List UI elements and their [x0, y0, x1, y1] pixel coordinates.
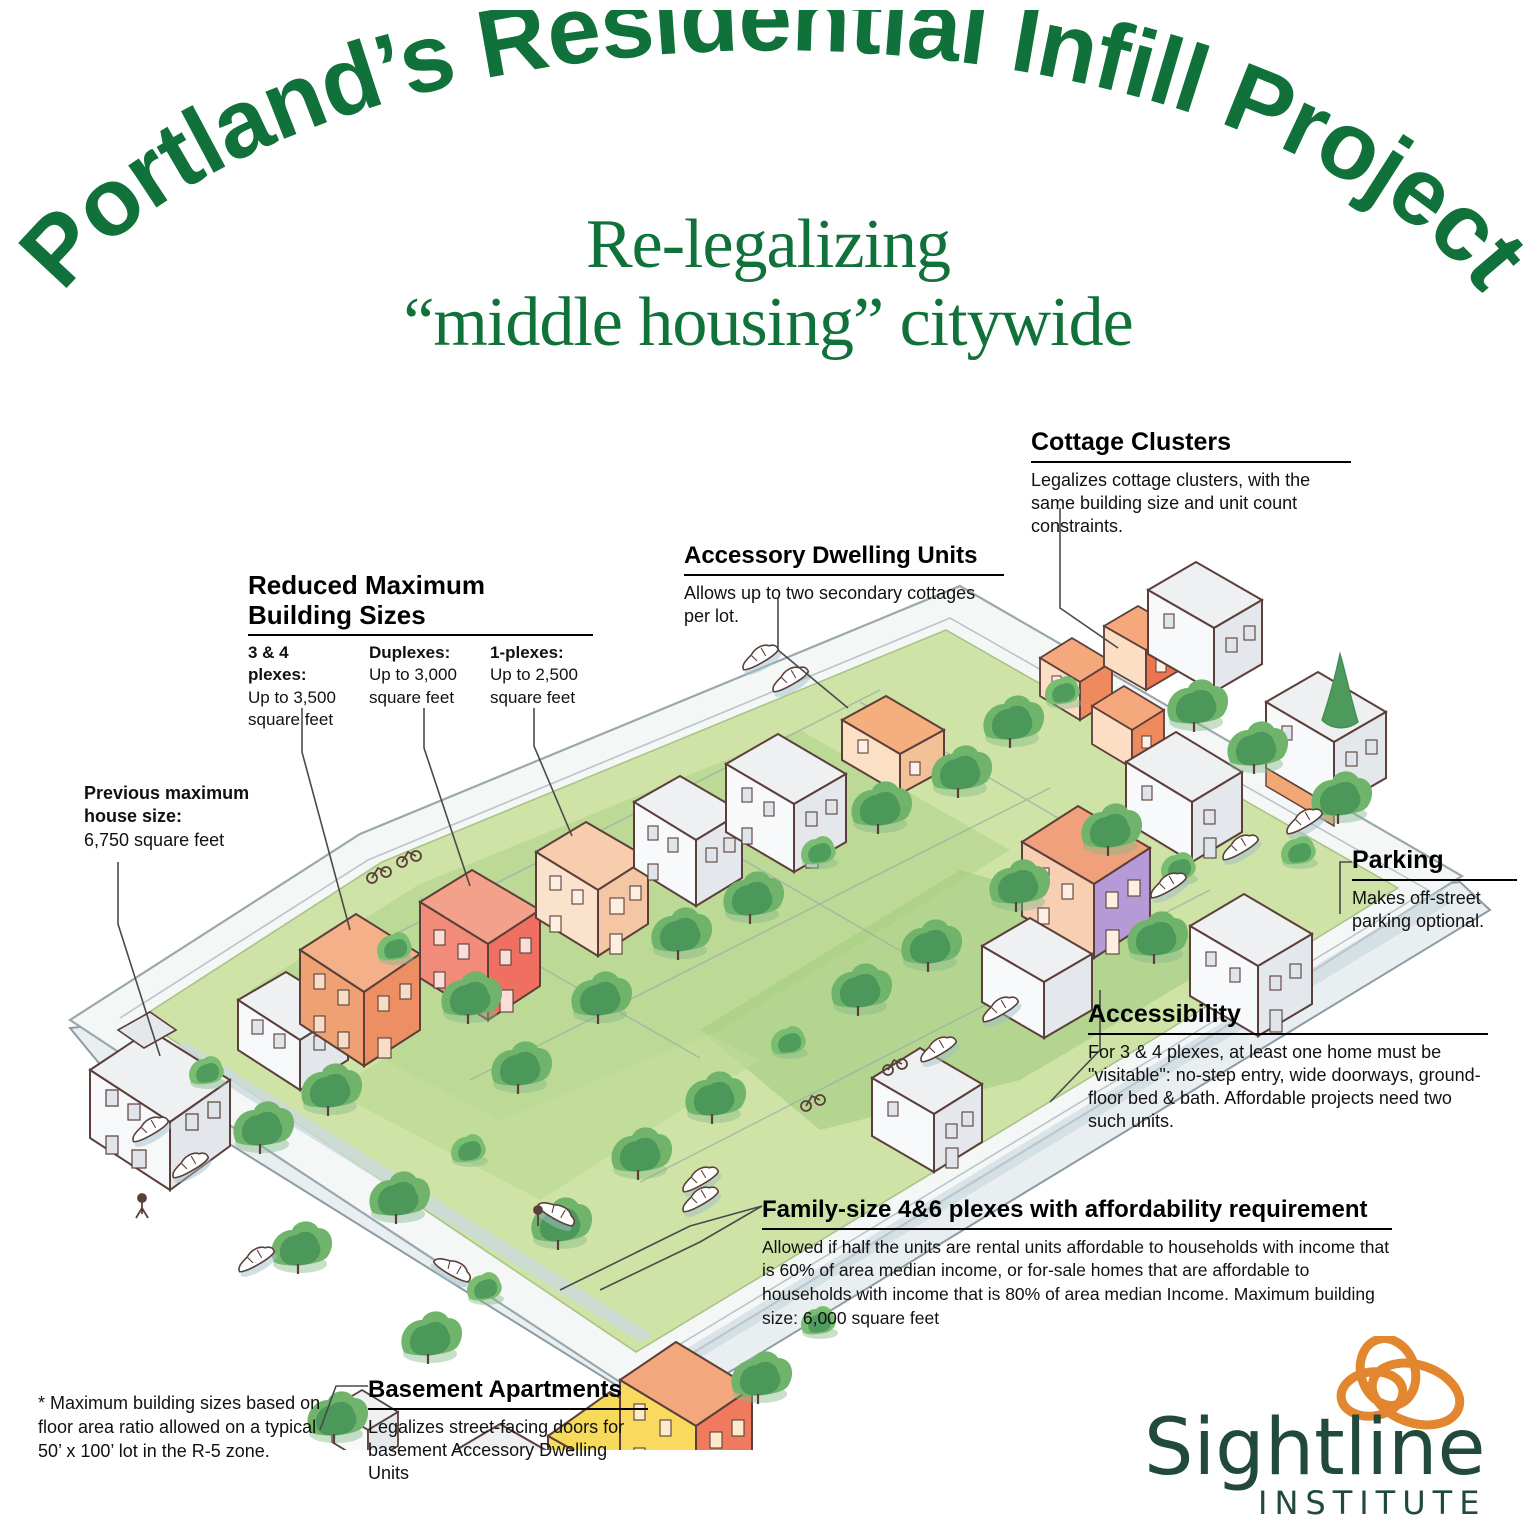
building-size-label-duplexes: Duplexes: — [369, 642, 472, 664]
building-size-column-duplexes: Duplexes: Up to 3,000 square feet — [369, 642, 472, 730]
callout-basement-apartments: Basement Apartments Legalizes street-fac… — [368, 1376, 648, 1485]
callout-building-sizes-columns: 3 & 4 plexes: Up to 3,500 square feet Du… — [248, 642, 593, 730]
callout-building-sizes-title-line-1: Reduced Maximum — [248, 570, 593, 600]
pedestrian-1 — [136, 1194, 148, 1218]
callout-previous-max-title-line-1: Previous maximum — [84, 782, 314, 805]
callout-building-sizes-title-line-2: Building Sizes — [248, 600, 593, 630]
sightline-institute-logo: Sightline INSTITUTE — [1140, 1336, 1500, 1526]
sightline-logo-subwordmark: INSTITUTE — [1258, 1484, 1486, 1522]
callout-family-size-plexes: Family-size 4&6 plexes with affordabilit… — [762, 1196, 1392, 1330]
callout-previous-max-title-line-2: house size: — [84, 805, 314, 828]
callout-family-plexes-body: Allowed if half the units are rental uni… — [762, 1236, 1392, 1331]
callout-cottage-clusters-rule — [1031, 461, 1351, 463]
callout-adu-rule — [684, 574, 1004, 576]
callout-adu-title: Accessory Dwelling Units — [684, 542, 1004, 570]
callout-basement-title: Basement Apartments — [368, 1376, 648, 1404]
callout-cottage-clusters-title: Cottage Clusters — [1031, 428, 1351, 457]
poster-subtitle-line-2: “middle housing” citywide — [0, 285, 1536, 361]
building-size-value-duplexes: Up to 3,000 square feet — [369, 665, 457, 706]
footnote-maximum-building-sizes: * Maximum building sizes based on floor … — [38, 1392, 328, 1463]
building-size-column-3-4-plexes: 3 & 4 plexes: Up to 3,500 square feet — [248, 642, 351, 730]
callout-adu-body: Allows up to two secondary cottages per … — [684, 582, 1004, 628]
building-size-label-1-plexes: 1-plexes: — [490, 642, 593, 664]
building-size-value-1-plexes: Up to 2,500 square feet — [490, 665, 578, 706]
callout-previous-maximum-house-size: Previous maximum house size: 6,750 squar… — [84, 782, 314, 852]
callout-family-plexes-rule — [762, 1228, 1392, 1230]
callout-basement-rule — [368, 1408, 648, 1410]
callout-accessibility-title: Accessibility — [1088, 1000, 1488, 1029]
building-size-column-1-plexes: 1-plexes: Up to 2,500 square feet — [490, 642, 593, 730]
callout-family-plexes-title: Family-size 4&6 plexes with affordabilit… — [762, 1196, 1392, 1224]
callout-parking: Parking Makes off-street parking optiona… — [1352, 846, 1517, 933]
building-size-value-3-4-plexes: Up to 3,500 square feet — [248, 688, 336, 729]
callout-reduced-maximum-building-sizes: Reduced Maximum Building Sizes 3 & 4 ple… — [248, 570, 593, 731]
sightline-logo-wordmark: Sightline — [1144, 1403, 1485, 1493]
building-size-label-3-4-plexes: 3 & 4 plexes: — [248, 642, 351, 686]
callout-parking-body: Makes off-street parking optional. — [1352, 887, 1517, 933]
callout-accessory-dwelling-units: Accessory Dwelling Units Allows up to tw… — [684, 542, 1004, 628]
callout-cottage-clusters-body: Legalizes cottage clusters, with the sam… — [1031, 469, 1351, 538]
callout-parking-rule — [1352, 879, 1517, 881]
callout-building-sizes-rule — [248, 634, 593, 636]
poster-subtitle-line-1: Re-legalizing — [0, 207, 1536, 283]
callout-cottage-clusters: Cottage Clusters Legalizes cottage clust… — [1031, 428, 1351, 538]
callout-previous-max-value: 6,750 square feet — [84, 830, 224, 850]
callout-parking-title: Parking — [1352, 846, 1517, 875]
callout-accessibility: Accessibility For 3 & 4 plexes, at least… — [1088, 1000, 1488, 1133]
callout-basement-body: Legalizes street-facing doors for baseme… — [368, 1416, 648, 1485]
callout-accessibility-body: For 3 & 4 plexes, at least one home must… — [1088, 1041, 1488, 1133]
callout-accessibility-rule — [1088, 1033, 1488, 1035]
